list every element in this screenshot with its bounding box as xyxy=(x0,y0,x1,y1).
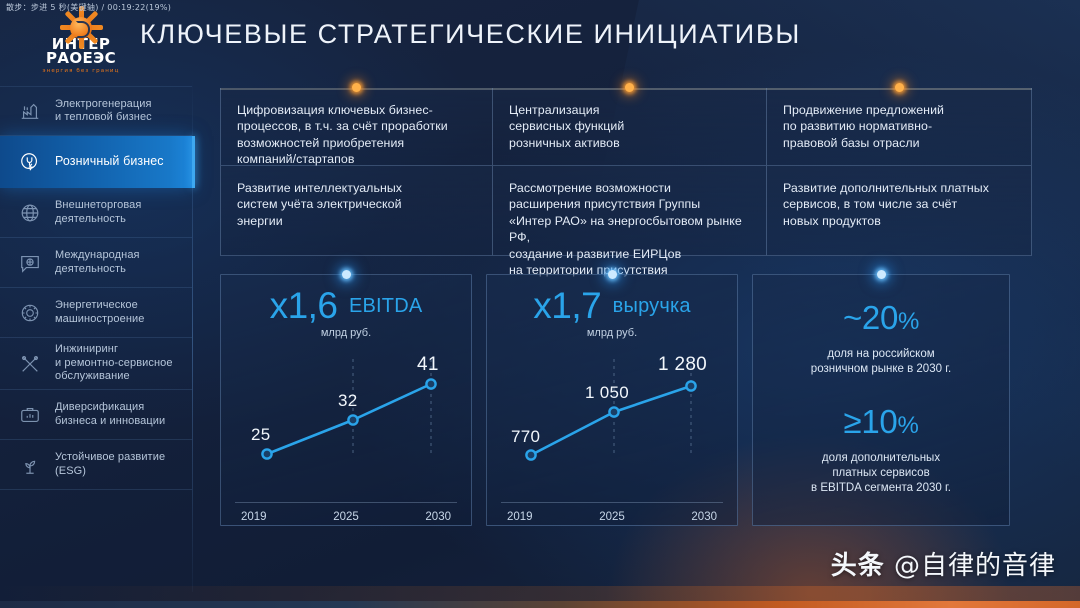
node-dot-icon xyxy=(608,270,617,279)
sidebar-item-foreign-trade[interactable]: Внешнеторговая деятельность xyxy=(0,188,192,238)
stat-market-share: ~20% доля на российском розничном рынке … xyxy=(753,275,1009,377)
node-dot-icon xyxy=(877,270,886,279)
gear-icon xyxy=(18,301,42,325)
x-tick-label: 2025 xyxy=(333,511,359,523)
watermark: 头条 @自律的音律 xyxy=(831,545,1056,582)
sidebar-item-power-generation[interactable]: Электрогенерация и тепловой бизнес xyxy=(0,86,192,136)
x-tick-label: 2025 xyxy=(599,511,625,523)
revenue-multiplier: x1,7 xyxy=(533,287,601,325)
sprout-icon xyxy=(18,453,42,477)
revenue-units: млрд руб. xyxy=(487,327,737,339)
sidebar-item-label: Розничный бизнес xyxy=(55,155,164,169)
bottom-strip-glow xyxy=(0,586,1080,602)
initiative-card[interactable]: Централизация сервисных функций розничны… xyxy=(492,88,766,166)
tools-icon xyxy=(18,352,42,376)
sidebar-item-engineering-service[interactable]: Инжиниринг и ремонтно-сервисное обслужив… xyxy=(0,338,192,390)
node-dot-icon xyxy=(352,83,361,92)
revenue-value-label: 770 xyxy=(511,427,540,447)
revenue-metric-label: выручка xyxy=(613,295,691,318)
player-status-text: 散步：步进 5 秒(美键轴) / 00:19:22(19%) xyxy=(6,2,171,13)
slide-root: 散步：步进 5 秒(美键轴) / 00:19:22(19%) ИНТЕР РАО… xyxy=(0,0,1080,608)
ebitda-chart-panel[interactable]: x1,6 EBITDA млрд руб. 25 32 41 xyxy=(220,274,472,526)
logo-name-line2: РАОЕЭС xyxy=(46,51,116,65)
briefcase-chart-icon xyxy=(18,403,42,427)
x-tick-label: 2019 xyxy=(241,511,267,523)
initiative-text: Цифровизация ключевых бизнес- процессов,… xyxy=(237,102,476,168)
plug-circle-icon xyxy=(18,150,42,174)
stat-number: ~20 xyxy=(843,299,898,336)
ebitda-line-chart: 25 32 41 xyxy=(235,341,457,489)
sidebar-item-power-engineering[interactable]: Энергетическое машиностроение xyxy=(0,288,192,338)
x-tick-label: 2030 xyxy=(425,511,451,523)
ebitda-units: млрд руб. xyxy=(221,327,471,339)
power-plant-icon xyxy=(18,99,42,123)
revenue-value-label: 1 280 xyxy=(658,354,707,376)
initiative-card[interactable]: Рассмотрение возможности расширения прис… xyxy=(492,166,766,256)
initiative-text: Рассмотрение возможности расширения прис… xyxy=(509,180,750,278)
node-dot-icon xyxy=(895,83,904,92)
sidebar-item-label: Международная деятельность xyxy=(55,249,140,276)
sun-icon xyxy=(60,12,102,43)
ebitda-header: x1,6 EBITDA млрд руб. xyxy=(221,275,471,339)
main-content: Цифровизация ключевых бизнес- процессов,… xyxy=(220,88,1032,526)
watermark-handle: @自律的音律 xyxy=(894,551,1056,581)
initiative-card[interactable]: Продвижение предложений по развитию норм… xyxy=(766,88,1032,166)
stat-value: ≥10% xyxy=(753,405,1009,443)
percent-sign: % xyxy=(898,308,919,335)
logo-tagline: энергия без границ xyxy=(43,68,120,74)
bottom-accent-strip xyxy=(0,601,1080,608)
kpi-panels: x1,6 EBITDA млрд руб. 25 32 41 xyxy=(220,274,1032,526)
initiatives-row-1: Цифровизация ключевых бизнес- процессов,… xyxy=(220,88,1032,166)
initiative-card[interactable]: Развитие дополнительных платных сервисов… xyxy=(766,166,1032,256)
watermark-brand: 头条 xyxy=(831,551,885,581)
percent-sign: % xyxy=(897,412,918,439)
market-share-stats-panel[interactable]: ~20% доля на российском розничном рынке … xyxy=(752,274,1010,526)
x-tick-label: 2019 xyxy=(507,511,533,523)
ebitda-multiplier: x1,6 xyxy=(270,287,338,325)
sidebar-item-label: Инжиниринг и ремонтно-сервисное обслужив… xyxy=(55,343,173,384)
revenue-header: x1,7 выручка млрд руб. xyxy=(487,275,737,339)
ebitda-value-label: 41 xyxy=(417,354,439,376)
sidebar-item-sustainability[interactable]: Устойчивое развитие (ESG) xyxy=(0,440,192,490)
stat-description: доля дополнительных платных сервисов в E… xyxy=(753,451,1009,496)
globe-icon xyxy=(18,201,42,225)
ebitda-metric-label: EBITDA xyxy=(349,295,422,318)
revenue-x-ticks: 2019 2025 2030 xyxy=(501,511,723,523)
x-tick-label: 2030 xyxy=(691,511,717,523)
ebitda-x-axis xyxy=(235,502,457,503)
sidebar-item-label: Внешнеторговая деятельность xyxy=(55,199,141,226)
stat-description: доля на российском розничном рынке в 203… xyxy=(753,347,1009,377)
page-title: КЛЮЧЕВЫЕ СТРАТЕГИЧЕСКИЕ ИНИЦИАТИВЫ xyxy=(140,19,801,50)
initiative-text: Развитие дополнительных платных сервисов… xyxy=(783,180,1015,229)
revenue-chart-panel[interactable]: x1,7 выручка млрд руб. 770 1 050 xyxy=(486,274,738,526)
sidebar-item-label: Энергетическое машиностроение xyxy=(55,299,144,326)
stat-paid-services-share: ≥10% доля дополнительных платных сервисо… xyxy=(753,377,1009,496)
sidebar-item-label: Электрогенерация и тепловой бизнес xyxy=(55,98,152,125)
initiative-text: Развитие интеллектуальных систем учёта э… xyxy=(237,180,476,229)
ebitda-value-label: 25 xyxy=(251,425,271,445)
revenue-value-label: 1 050 xyxy=(585,383,629,403)
ebitda-value-label: 32 xyxy=(338,391,358,411)
sidebar-item-retail-business[interactable]: Розничный бизнес xyxy=(0,136,192,188)
stat-value: ~20% xyxy=(753,301,1009,339)
stat-number: ≥10 xyxy=(844,403,898,440)
initiative-text: Продвижение предложений по развитию норм… xyxy=(783,102,1015,151)
sidebar-nav: Электрогенерация и тепловой бизнес Розни… xyxy=(0,86,192,584)
sidebar-item-diversification[interactable]: Диверсификация бизнеса и инновации xyxy=(0,390,192,440)
initiative-text: Централизация сервисных функций розничны… xyxy=(509,102,750,151)
speech-globe-icon xyxy=(18,251,42,275)
revenue-x-axis xyxy=(501,502,723,503)
sidebar-item-international[interactable]: Международная деятельность xyxy=(0,238,192,288)
initiatives-row-2: Развитие интеллектуальных систем учёта э… xyxy=(220,166,1032,256)
initiatives-grid: Цифровизация ключевых бизнес- процессов,… xyxy=(220,88,1032,256)
node-dot-icon xyxy=(342,270,351,279)
revenue-line-chart: 770 1 050 1 280 xyxy=(501,341,723,489)
sidebar-item-label: Устойчивое развитие (ESG) xyxy=(55,451,165,478)
sidebar-item-label: Диверсификация бизнеса и инновации xyxy=(55,401,165,428)
company-logo: ИНТЕР РАОЕЭС энергия без границ xyxy=(22,12,140,74)
ebitda-x-ticks: 2019 2025 2030 xyxy=(235,511,457,523)
initiative-card[interactable]: Цифровизация ключевых бизнес- процессов,… xyxy=(220,88,492,166)
initiative-card[interactable]: Развитие интеллектуальных систем учёта э… xyxy=(220,166,492,256)
node-dot-icon xyxy=(625,83,634,92)
